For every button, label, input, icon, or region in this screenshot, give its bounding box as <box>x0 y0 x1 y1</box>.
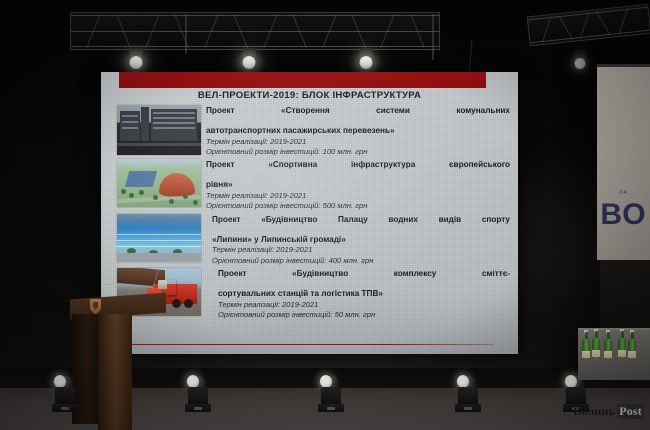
project-text-block: Проект «Будівництво Палацу водних видів … <box>206 214 510 265</box>
project-term-value: 2019-2021 <box>270 137 306 146</box>
banner-big-text: ВО <box>597 200 650 230</box>
project-investment: Орієнтовний розмір інвестицій: 500 млн. … <box>206 201 510 211</box>
project-text-block: Проект «Спортивна інфраструктура європей… <box>206 159 510 210</box>
watermark-brand-name: Волинь <box>573 404 615 419</box>
project-term-value: 2019-2021 <box>282 300 318 309</box>
ceiling-truss-main <box>70 12 440 50</box>
project-title: Проект «Створення системи комунальних ав… <box>206 106 510 136</box>
project-term-value: 2019-2021 <box>276 245 312 254</box>
moving-head-stage-light <box>183 376 213 412</box>
project-term-label: Термін реалізації: <box>212 245 274 254</box>
moving-head-stage-light <box>50 376 80 412</box>
slide-bottom-red-rule <box>123 344 494 345</box>
project-investment-label: Орієнтовний розмір інвестицій: <box>218 310 332 319</box>
project-investment-label: Орієнтовний розмір інвестицій: <box>212 256 326 265</box>
project-term: Термін реалізації: 2019-2021 <box>218 300 510 310</box>
truss-support-post <box>432 14 434 60</box>
project-investment: Орієнтовний розмір інвестицій: 400 млн. … <box>212 256 510 266</box>
project-term-label: Термін реалізації: <box>206 191 268 200</box>
project-title-line-2: сортувальних станцій та логістика ТПВ» <box>218 289 510 299</box>
project-term-value: 2019-2021 <box>270 191 306 200</box>
project-title-line-1: Проект «Спортивна інфраструктура європей… <box>206 160 510 180</box>
project-title-line-2: автотранспортних пасажирських перевезень… <box>206 126 510 136</box>
project-title-line-1: Проект «Створення системи комунальних <box>206 106 510 126</box>
swimming-pool-thumbnail <box>117 214 201 262</box>
banner-small-text: РА <box>597 190 650 196</box>
truss-support-post <box>185 14 187 54</box>
moving-head-stage-light <box>453 376 483 412</box>
slide-project-row: Проект «Створення системи комунальних ав… <box>117 105 510 156</box>
project-title: Проект «Будівництво комплексу сміттє- со… <box>218 269 510 299</box>
moving-head-stage-light <box>316 376 346 412</box>
project-investment-label: Орієнтовний розмір інвестицій: <box>206 201 320 210</box>
slide-title: ВЕЛ-ПРОЕКТИ-2019: БЛОК ІНФРАСТРУКТУРА <box>101 90 518 101</box>
banner-rod <box>597 64 650 67</box>
project-investment-value: 100 млн. грн <box>323 147 368 156</box>
slide-project-row: Проект «Будівництво Палацу водних видів … <box>117 214 510 265</box>
project-title-line-2: «Липини» у Липинській громаді» <box>212 235 510 245</box>
slide-project-row: Проект «Спортивна інфраструктура європей… <box>117 159 510 210</box>
ceiling-truss-right <box>527 4 650 47</box>
refreshment-table <box>578 300 650 380</box>
project-term: Термін реалізації: 2019-2021 <box>212 245 510 255</box>
project-title-line-1: Проект «Будівництво Палацу водних видів … <box>212 215 510 235</box>
conference-hall-scene: ВЕЛ-ПРОЕКТИ-2019: БЛОК ІНФРАСТРУКТУРА <box>0 0 650 430</box>
sports-complex-thumbnail <box>117 159 201 207</box>
slide-red-header-bar <box>119 72 486 88</box>
hanging-cable <box>469 40 473 74</box>
project-title: Проект «Спортивна інфраструктура європей… <box>206 160 510 190</box>
watermark: Волинь Post <box>573 404 644 419</box>
project-text-block: Проект «Будівництво комплексу сміттє- со… <box>206 268 510 319</box>
event-roll-up-banner: РА ВО <box>597 64 650 260</box>
project-text-block: Проект «Створення системи комунальних ав… <box>206 105 510 156</box>
watermark-brand-suffix: Post <box>617 404 644 419</box>
project-investment: Орієнтовний розмір інвестицій: 100 млн. … <box>206 147 510 157</box>
project-investment-value: 500 млн. грн <box>323 201 368 210</box>
project-investment-value: 50 млн. грн <box>335 310 376 319</box>
project-title: Проект «Будівництво Палацу водних видів … <box>212 215 510 245</box>
project-title-line-1: Проект «Будівництво комплексу сміттє- <box>218 269 510 289</box>
project-term: Термін реалізації: 2019-2021 <box>206 137 510 147</box>
bus-terminal-thumbnail <box>117 105 201 155</box>
project-term: Термін реалізації: 2019-2021 <box>206 191 510 201</box>
project-investment-label: Орієнтовний розмір інвестицій: <box>206 147 320 156</box>
project-term-label: Термін реалізації: <box>206 137 268 146</box>
project-investment: Орієнтовний розмір інвестицій: 50 млн. г… <box>218 310 510 320</box>
project-title-line-2: рівня» <box>206 180 510 190</box>
project-investment-value: 400 млн. грн <box>329 256 374 265</box>
project-term-label: Термін реалізації: <box>218 300 280 309</box>
podium-center-column <box>98 314 132 430</box>
